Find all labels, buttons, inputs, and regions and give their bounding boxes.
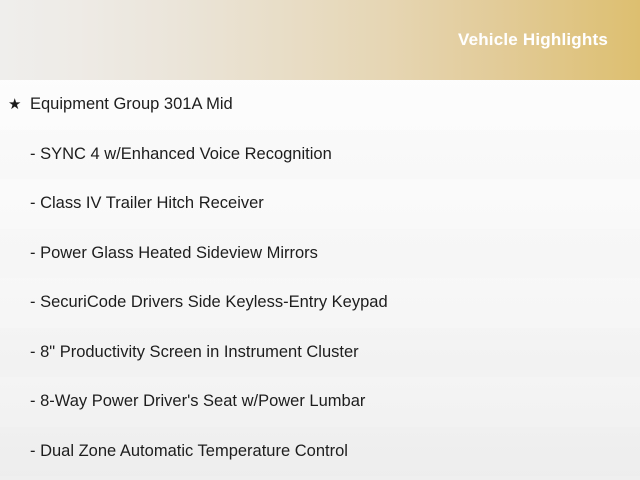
list-item-label: - Class IV Trailer Hitch Receiver (8, 194, 264, 213)
header-banner: Vehicle Highlights (0, 0, 640, 80)
vehicle-highlights-page: Vehicle Highlights ★ Equipment Group 301… (0, 0, 640, 480)
list-item: - SYNC 4 w/Enhanced Voice Recognition (0, 130, 640, 180)
list-item: - 8-Way Power Driver's Seat w/Power Lumb… (0, 377, 640, 427)
list-item: - Power Glass Heated Sideview Mirrors (0, 229, 640, 279)
list-item: ★ Equipment Group 301A Mid (0, 80, 640, 130)
list-item: - SecuriCode Drivers Side Keyless-Entry … (0, 278, 640, 328)
list-item-label: - Power Glass Heated Sideview Mirrors (8, 244, 318, 263)
highlights-list: ★ Equipment Group 301A Mid - SYNC 4 w/En… (0, 80, 640, 476)
list-item-label: - 8" Productivity Screen in Instrument C… (8, 343, 359, 362)
list-item: - 8" Productivity Screen in Instrument C… (0, 328, 640, 378)
list-item-label: - SYNC 4 w/Enhanced Voice Recognition (8, 145, 332, 164)
star-icon: ★ (8, 97, 30, 112)
list-item: - Class IV Trailer Hitch Receiver (0, 179, 640, 229)
list-item-label: Equipment Group 301A Mid (30, 95, 233, 114)
page-title: Vehicle Highlights (458, 30, 608, 50)
list-item-label: - 8-Way Power Driver's Seat w/Power Lumb… (8, 392, 365, 411)
list-item-label: - Dual Zone Automatic Temperature Contro… (8, 442, 348, 461)
list-item: - Dual Zone Automatic Temperature Contro… (0, 427, 640, 477)
list-item-label: - SecuriCode Drivers Side Keyless-Entry … (8, 293, 388, 312)
